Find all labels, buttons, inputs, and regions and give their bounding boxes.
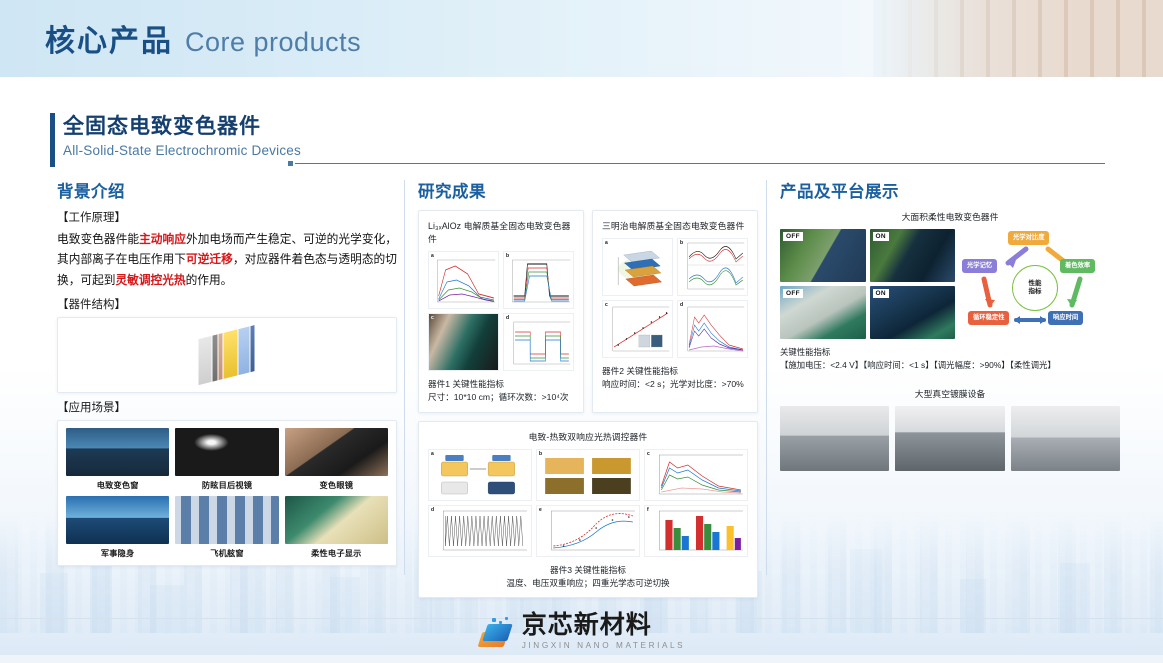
panel-1-caption-line1: 器件1 关键性能指标 [428,378,574,391]
flexible-display-photo [285,496,388,544]
logo-blue-shape [482,624,513,641]
node-optical-memory: 光学记忆 [962,259,997,273]
panel-title: 三明治电解质基全固态电致变色器件 [602,219,748,232]
column-background: 背景介绍 【工作原理】 电致变色器件能主动响应外加电场而产生稳定、可逆的光学变化… [57,178,397,566]
application-label: 【应用场景】 [57,400,397,417]
application-gallery: 电致变色窗 防眩目后视镜 变色眼镜 军事隐身 飞机舷窗 [57,420,397,566]
absorbance-spectrum-chart: d [677,300,748,358]
panel-1-caption-line2: 尺寸：10*10 cm；循环次数：>10⁴次 [428,391,574,404]
column-divider-2 [766,180,767,575]
figure-tag: d [680,302,683,308]
military-stealth-photo [66,496,169,544]
jingxin-logo-icon [478,617,512,647]
figure-grid: a b [428,449,748,557]
layer-electrolyte [224,329,238,378]
research-panel-2[interactable]: 三明治电解质基全固态电致变色器件 a [592,210,758,413]
smart-window-photo [66,428,169,476]
column-divider-1 [404,180,405,575]
logo-text-en: JINGXIN NANO MATERIALS [522,641,686,650]
principle-paragraph: 电致变色器件能主动响应外加电场而产生稳定、可逆的光学变化，其内部离子在电压作用下… [57,230,397,290]
principle-text-4: 的作用。 [186,274,233,287]
cycling-stability-chart: d [428,505,532,557]
bottom-strip [0,655,1163,663]
anti-glare-mirror-photo [175,428,278,476]
kpi-block: 关键性能指标 【施加电压：<2.4 V】【响应时间：<1 s】【调光幅度：>90… [780,346,1120,373]
panel-2-caption: 器件2 关键性能指标 响应时间：<2 s；光学对比度：>70% [602,365,748,392]
device-structure-card [57,317,397,393]
device-schematic-diagram: a [602,238,673,296]
dual-response-photos: b [536,449,640,501]
header-title-en: Core products [185,27,361,58]
kpi-values: 【施加电压：<2.4 V】【响应时间：<1 s】【调光幅度：>90%】【柔性调光… [780,359,1120,372]
figure-tag: b [680,240,683,246]
figure-tag: d [431,507,434,513]
equipment-grid [780,406,1120,471]
header-title: 核心产品 Core products [45,16,361,60]
coloration-efficiency-chart: c [602,300,673,358]
transmittance-spectrum-chart: a [428,251,499,309]
state-badge-on: ON [873,289,889,298]
principle-highlight-1: 主动响应 [139,233,186,246]
figure-tag: e [539,507,542,513]
left-column-title: 背景介绍 [57,178,397,202]
slide-root: 核心产品 Core products 全固态电致变色器件 All-Solid-S… [0,0,1163,663]
research-panel-row: Li₃ₓAlOz 电解质基全固态电致变色器件 a [418,210,758,413]
slide-footer: 京芯新材料 JINGXIN NANO MATERIALS [0,600,1163,663]
principle-label: 【工作原理】 [57,210,397,227]
section-title-en: All-Solid-State Electrochromic Devices [63,143,301,158]
research-panel-3[interactable]: 电致-热致双响应光热调控器件 a b [418,421,758,599]
logo-text-cn: 京芯新材料 [522,613,686,638]
principle-text-1: 电致变色器件能 [57,233,139,246]
header-building-photo [873,0,1163,77]
application-caption: 变色眼镜 [320,479,354,491]
figure-tag: d [506,315,509,321]
panel-3-caption-line1: 器件3 关键性能指标 [428,564,748,577]
panel-3-caption: 器件3 关键性能指标 温度、电压双重响应；四重光学态可逆切换 [428,564,748,591]
kpi-label: 关键性能指标 [780,346,1120,359]
slide-header: 核心产品 Core products [0,0,1163,77]
structure-label: 【器件结构】 [57,297,397,314]
section-divider-rule [295,163,1105,164]
layer-electrochromic [219,333,223,380]
figure-tag: b [539,451,542,457]
application-item[interactable]: 变色眼镜 [285,428,388,491]
reflectance-spectrum-chart: b [677,238,748,296]
logo-text-block: 京芯新材料 JINGXIN NANO MATERIALS [522,613,686,650]
figure-tag: a [431,451,434,457]
application-item[interactable]: 飞机舷窗 [175,496,278,559]
layer-ion-storage [239,326,250,375]
application-grid: 电致变色窗 防眩目后视镜 变色眼镜 军事隐身 飞机舷窗 [66,428,388,559]
figure-tag: a [605,240,608,246]
radial-center-label: 性能 指标 [1012,265,1058,311]
middle-column-title: 研究成果 [418,178,758,202]
product-photo-grid: OFF ON OFF ON [780,229,955,339]
figure-tag: c [605,302,608,308]
panel-1-caption: 器件1 关键性能指标 尺寸：10*10 cm；循环次数：>10⁴次 [428,378,574,405]
state-badge-off: OFF [783,232,803,241]
application-caption: 飞机舷窗 [210,547,244,559]
photochromic-glasses-photo [285,428,388,476]
application-item[interactable]: 防眩目后视镜 [175,428,278,491]
application-caption: 军事隐身 [101,547,135,559]
equipment-title: 大型真空镀膜设备 [780,387,1120,400]
device-demo-photo: c [428,313,499,371]
layer-divider-1 [213,334,218,381]
flexible-device-leaf-on-photo[interactable]: ON [870,229,956,282]
vacuum-coating-machine-1-photo[interactable] [780,406,889,471]
column-background: 研究成果 Li₃ₓAlOz 电解质基全固态电致变色器件 a [418,178,758,598]
layer-transparent-conductive-2 [251,325,255,372]
figure-tag: f [647,507,649,513]
node-coloration-efficiency: 着色效率 [1060,259,1095,273]
application-caption: 电致变色窗 [97,479,139,491]
figure-grid: a b [428,251,574,371]
temperature-response-chart: e [536,505,640,557]
figure-tag: c [647,451,650,457]
panel-title: Li₃ₓAlOz 电解质基全固态电致变色器件 [428,219,574,245]
panel-3-caption-line2: 温度、电压双重响应；四重光学态可逆切换 [428,577,748,590]
aircraft-porthole-photo [175,496,278,544]
optical-state-spectrum-chart: c [644,449,748,501]
device-structure-diagram [199,325,256,385]
principle-highlight-2: 可逆迁移 [186,253,233,266]
state-badge-on: ON [873,232,889,241]
dual-response-schematic-diagram: a [428,449,532,501]
section-heading: 全固态电致变色器件 All-Solid-State Electrochromic… [63,110,301,158]
principle-highlight-3: 灵敏调控光热 [115,274,185,287]
application-item[interactable]: 柔性电子显示 [285,496,388,559]
logo-dot [505,617,508,620]
logo-dot [492,618,496,622]
node-response-time: 响应时间 [1048,311,1083,325]
flexible-device-title: 大面积柔性电致变色器件 [780,210,1120,223]
section-title-cn: 全固态电致变色器件 [63,110,301,140]
performance-radial-diagram: 光学对比度 光学记忆 着色效率 循环稳定性 响应时间 性能 指标 [962,229,1112,334]
application-caption: 防眩目后视镜 [202,479,252,491]
vacuum-coating-machine-3-photo[interactable] [1011,406,1120,471]
panel-2-caption-line2: 响应时间：<2 s；光学对比度：>70% [602,378,748,391]
panel-3-title: 电致-热致双响应光热调控器件 [428,430,748,443]
logo-dot [499,621,502,624]
figure-tag: b [506,253,509,259]
flexible-film-outdoor-on-photo[interactable]: ON [870,286,956,339]
application-caption: 柔性电子显示 [311,547,361,559]
right-column-title: 产品及平台展示 [780,178,1120,202]
application-item[interactable]: 军事隐身 [66,496,169,559]
header-title-cn: 核心产品 [45,16,173,60]
research-panel-1[interactable]: Li₃ₓAlOz 电解质基全固态电致变色器件 a [418,210,584,413]
panel-2-caption-line1: 器件2 关键性能指标 [602,365,748,378]
state-badge-off: OFF [783,289,803,298]
optical-state-bar-chart: f [644,505,748,557]
application-item[interactable]: 电致变色窗 [66,428,169,491]
flexible-device-leaf-off-photo[interactable]: OFF [780,229,866,282]
flexible-film-outdoor-off-photo[interactable]: OFF [780,286,866,339]
product-showcase: OFF ON OFF ON [780,229,1120,339]
vacuum-coating-machine-2-photo[interactable] [895,406,1004,471]
node-optical-contrast: 光学对比度 [1008,231,1049,245]
switching-kinetics-chart: b [503,251,574,309]
figure-tag: c [431,315,434,321]
node-cycling-stability: 循环稳定性 [968,311,1009,325]
current-density-chart: d [503,313,574,371]
layer-transparent-conductive-1 [199,336,212,385]
figure-tag: a [431,253,434,259]
section-accent-bar [50,113,55,167]
figure-grid: a b [602,238,748,358]
column-background: 产品及平台展示 大面积柔性电致变色器件 OFF ON OFF ON [780,178,1120,471]
